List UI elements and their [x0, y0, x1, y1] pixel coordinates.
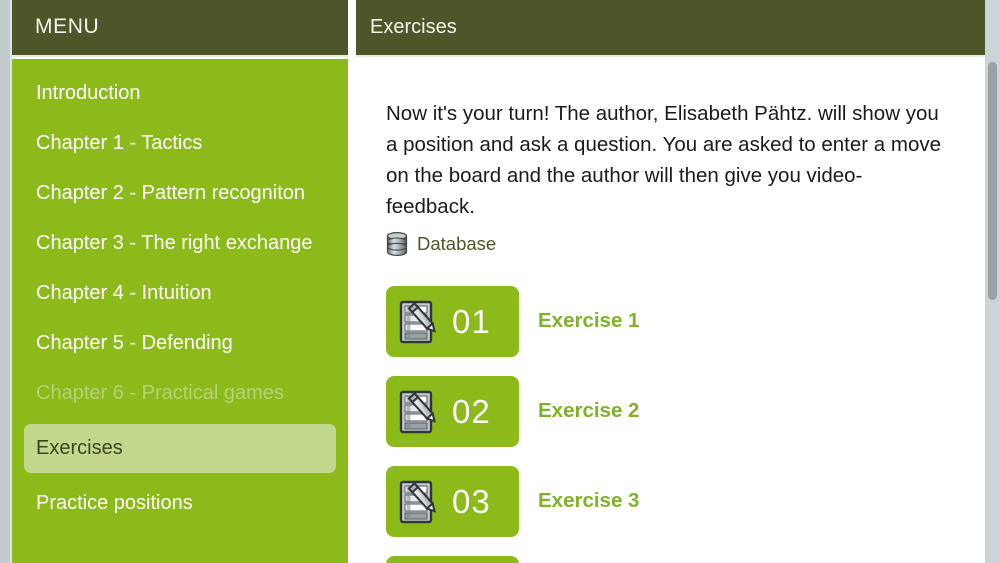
- exercise-document-pencil-icon: [398, 479, 440, 525]
- content-panel: Exercises Now it's your turn! The author…: [356, 0, 985, 563]
- sidebar-item-chapter-5-defending[interactable]: Chapter 5 - Defending: [12, 324, 348, 363]
- sidebar-item-practice-positions[interactable]: Practice positions: [12, 484, 348, 523]
- intro-paragraph: Now it's your turn! The author, Elisabet…: [386, 98, 946, 222]
- menu-header: MENU: [12, 0, 348, 57]
- sidebar-item-label: Chapter 4 - Intuition: [36, 282, 212, 304]
- exercise-tile-04[interactable]: 04: [386, 556, 519, 563]
- content-body: Now it's your turn! The author, Elisabet…: [356, 59, 985, 563]
- menu-body: IntroductionChapter 1 - TacticsChapter 2…: [12, 59, 348, 563]
- database-icon: [386, 232, 408, 256]
- exercise-number: 02: [452, 393, 491, 431]
- app-root: MENU IntroductionChapter 1 - TacticsChap…: [0, 0, 1000, 563]
- menu-header-title: MENU: [35, 15, 99, 39]
- exercise-label[interactable]: Exercise 3: [538, 489, 639, 513]
- exercise-tile-03[interactable]: 03: [386, 466, 519, 537]
- exercise-tile-01[interactable]: 01: [386, 286, 519, 357]
- exercise-row: 02Exercise 2: [386, 376, 976, 466]
- sidebar-item-chapter-2-pattern-recogniton[interactable]: Chapter 2 - Pattern recogniton: [12, 174, 348, 213]
- sidebar-item-exercises[interactable]: Exercises: [24, 424, 336, 473]
- exercise-document-pencil-icon: [398, 389, 440, 435]
- menu-list: IntroductionChapter 1 - TacticsChapter 2…: [12, 59, 348, 534]
- content-header-title: Exercises: [370, 16, 457, 39]
- sidebar-item-chapter-3-the-right-exchange[interactable]: Chapter 3 - The right exchange: [12, 224, 348, 263]
- exercise-row: 04Exercise 4: [386, 556, 976, 563]
- sidebar-item-label: Chapter 3 - The right exchange: [36, 232, 312, 254]
- sidebar-item-label: Introduction: [36, 82, 141, 104]
- sidebar-item-label: Practice positions: [36, 492, 193, 514]
- sidebar-item-label: Chapter 2 - Pattern recogniton: [36, 182, 305, 204]
- sidebar-item-chapter-1-tactics[interactable]: Chapter 1 - Tactics: [12, 124, 348, 163]
- exercise-number: 01: [452, 303, 491, 341]
- sidebar-item-introduction[interactable]: Introduction: [12, 74, 348, 113]
- database-label: Database: [417, 233, 496, 255]
- exercise-tile-02[interactable]: 02: [386, 376, 519, 447]
- sidebar-item-label: Chapter 1 - Tactics: [36, 132, 202, 154]
- exercise-row: 01Exercise 1: [386, 286, 976, 376]
- vertical-scrollbar-thumb[interactable]: [988, 62, 997, 300]
- sidebar-item-label: Chapter 6 - Practical games: [36, 382, 284, 404]
- exercise-list: 01Exercise 102Exercise 203Exercise 304Ex…: [386, 286, 976, 563]
- sidebar-item-chapter-6-practical-games[interactable]: Chapter 6 - Practical games: [12, 374, 348, 413]
- database-link[interactable]: Database: [386, 232, 496, 256]
- sidebar-item-chapter-4-intuition[interactable]: Chapter 4 - Intuition: [12, 274, 348, 313]
- exercise-number: 03: [452, 483, 491, 521]
- sidebar-item-label: Exercises: [36, 436, 324, 461]
- content-header: Exercises: [356, 0, 985, 57]
- sidebar-item-label: Chapter 5 - Defending: [36, 332, 233, 354]
- exercise-label[interactable]: Exercise 1: [538, 309, 639, 333]
- vertical-scrollbar-track[interactable]: [985, 0, 1000, 563]
- exercise-document-pencil-icon: [398, 299, 440, 345]
- menu-panel: MENU IntroductionChapter 1 - TacticsChap…: [12, 0, 348, 563]
- exercise-row: 03Exercise 3: [386, 466, 976, 556]
- exercise-label[interactable]: Exercise 2: [538, 399, 639, 423]
